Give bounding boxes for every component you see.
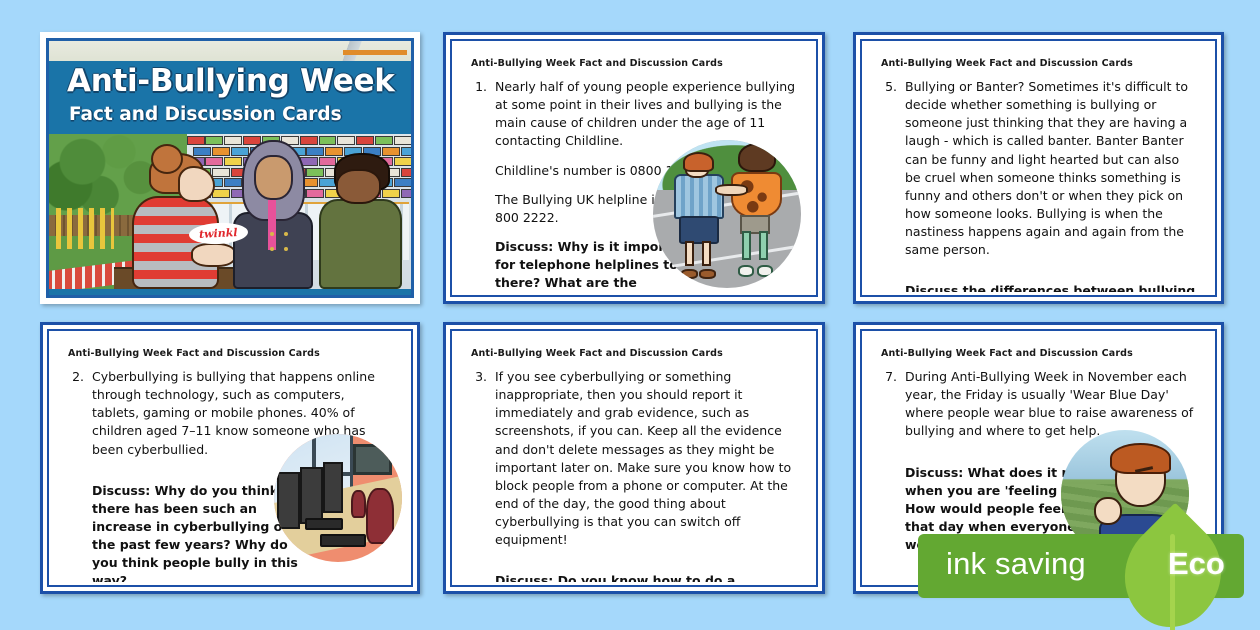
fact-card-1[interactable]: Anti-Bullying Week Fact and Discussion C… [443,32,825,304]
card-paragraph: If you see cyberbullying or something in… [495,368,797,549]
title-subheading: Fact and Discussion Cards [69,104,342,125]
card-number: 2. [68,368,84,582]
card-number: 3. [471,368,487,582]
eco-badge-word: Eco [1168,546,1225,582]
card-kicker: Anti-Bullying Week Fact and Discussion C… [881,58,1196,69]
sky-strip [49,41,411,61]
title-card-frame: Anti-Bullying Week Fact and Discussion C… [46,38,414,298]
card-discuss-prompt: Discuss the differences between bullying… [905,282,1196,292]
fact-card-5[interactable]: Anti-Bullying Week Fact and Discussion C… [853,32,1224,304]
climbing-frame-graphic [56,208,114,248]
title-card-footer-bar [49,289,411,295]
card-kicker: Anti-Bullying Week Fact and Discussion C… [471,58,797,69]
title-card[interactable]: Anti-Bullying Week Fact and Discussion C… [40,32,420,304]
student-hijab-graphic [230,140,317,289]
fact-card-2[interactable]: Anti-Bullying Week Fact and Discussion C… [40,322,420,594]
card-number: 7. [881,368,897,554]
card-number: 5. [881,78,897,292]
computer-room-illustration [274,434,402,562]
student-green-top-graphic [317,153,404,289]
fact-card-3[interactable]: Anti-Bullying Week Fact and Discussion C… [443,322,825,594]
title-illustration: twinkl [49,134,411,289]
card-discuss-prompt: Discuss: Do you know how to do a screens… [495,572,797,582]
student-striped-shirt-graphic [129,153,223,289]
eco-badge-label: ink saving [946,546,1086,582]
card-paragraph: Bullying or Banter? Sometimes it's diffi… [905,78,1196,259]
card-number: 1. [471,78,487,292]
ink-saving-eco-badge: ink saving Eco [918,528,1260,604]
card-kicker: Anti-Bullying Week Fact and Discussion C… [881,348,1196,359]
worksheet-preview: Anti-Bullying Week Fact and Discussion C… [0,0,1260,630]
card-kicker: Anti-Bullying Week Fact and Discussion C… [471,348,797,359]
playground-children-illustration [653,140,801,288]
title-heading: Anti-Bullying Week [67,63,395,99]
card-kicker: Anti-Bullying Week Fact and Discussion C… [68,348,392,359]
